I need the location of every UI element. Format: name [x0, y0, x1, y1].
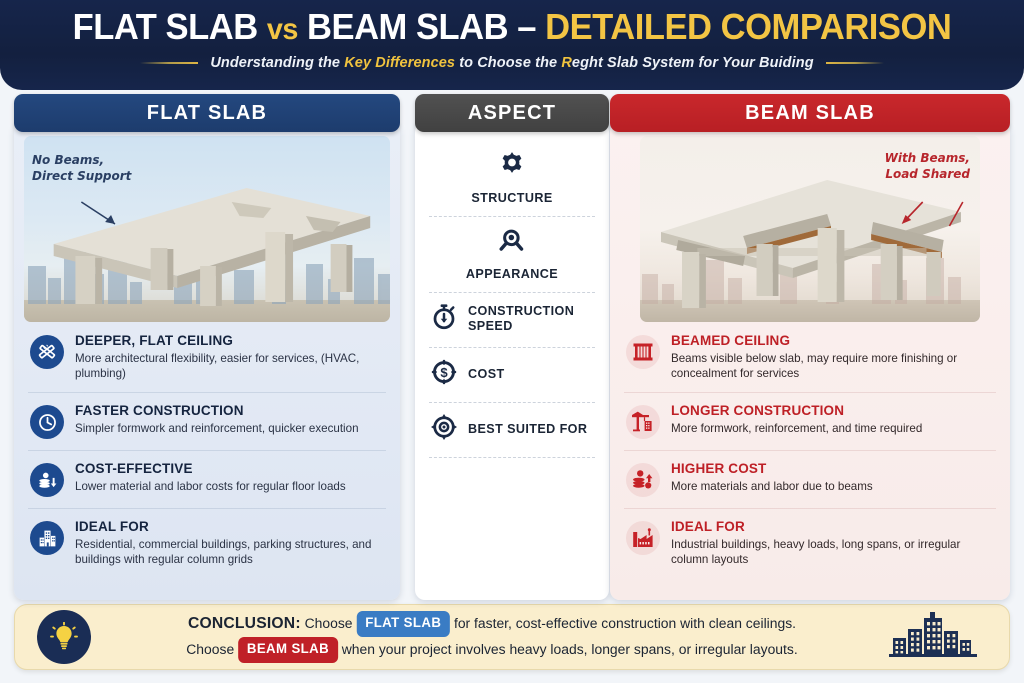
conclusion-line1-before: Choose	[301, 616, 357, 632]
page-subtitle: Understanding the Key Differences to Cho…	[210, 55, 813, 71]
conclusion-line-2: Choose BEAM SLAB when your project invol…	[115, 637, 870, 663]
beam-feature-beamed-ceiling: BEAMED CEILING Beams visible below slab,…	[618, 322, 1002, 392]
subtitle-key-differences: Key Differences	[344, 55, 455, 71]
conclusion-bar: CONCLUSION: Choose FLAT SLAB for faster,…	[14, 604, 1010, 670]
flat-slab-header: FLAT SLAB	[14, 94, 400, 132]
flat-slab-body: No Beams,Direct Support	[14, 122, 400, 600]
aspect-construction-speed: CONSTRUCTION SPEED	[425, 292, 599, 347]
header-banner: FLAT SLAB vs BEAM SLAB – DETAILED COMPAR…	[0, 0, 1024, 90]
feature-title: FASTER CONSTRUCTION	[75, 403, 384, 419]
beam-slab-illustration: With Beams,Load Shared	[640, 136, 980, 322]
flat-feature-deeper-flat-ceiling: DEEPER, FLAT CEILING More architectural …	[22, 322, 392, 392]
divider-left	[140, 62, 198, 64]
aspect-label: BEST SUITED FOR	[468, 422, 587, 437]
target-icon	[429, 412, 459, 447]
subtitle-row: Understanding the Key Differences to Cho…	[0, 55, 1024, 71]
feature-desc: Lower material and labor costs for regul…	[75, 479, 384, 494]
stopwatch-glyph	[429, 302, 459, 332]
beam-feature-text: BEAMED CEILING Beams visible below slab,…	[671, 333, 994, 381]
column-beam-slab: BEAM SLAB	[610, 94, 1010, 600]
column-flat-slab: FLAT SLAB	[14, 94, 400, 600]
gear-icon	[497, 150, 527, 185]
conclusion-label: CONCLUSION:	[188, 615, 301, 632]
aspect-best-suited-for: BEST SUITED FOR	[425, 402, 599, 457]
title-detailed-comparison: DETAILED COMPARISON	[545, 6, 951, 47]
dollar-icon: $	[429, 357, 459, 392]
feature-title: DEEPER, FLAT CEILING	[75, 333, 384, 349]
beam-slab-annotation: With Beams,Load Shared	[885, 150, 970, 182]
aspect-label: STRUCTURE	[471, 191, 552, 206]
magnifier-glyph	[497, 226, 527, 256]
gear-glyph	[497, 150, 527, 180]
aspect-cost: $ COST	[425, 347, 599, 402]
subtitle-part-3: eght Slab System for Your Buiding	[572, 55, 814, 71]
beam-feature-higher-cost: HIGHER COST More materials and labor due…	[618, 450, 1002, 508]
coins-up-glyph	[631, 468, 655, 492]
factory-glyph	[631, 526, 655, 550]
clock-icon	[30, 405, 64, 439]
feature-title: IDEAL FOR	[75, 519, 384, 535]
title-vs: vs	[267, 13, 298, 46]
crane-glyph	[631, 410, 655, 434]
beam-feature-text: LONGER CONSTRUCTION More formwork, reinf…	[671, 403, 994, 436]
feature-title: COST-EFFECTIVE	[75, 461, 384, 477]
feature-desc: More formwork, reinforcement, and time r…	[671, 421, 994, 436]
conclusion-line2-after: when your project involves heavy loads, …	[338, 642, 798, 658]
aspect-header: ASPECT	[415, 94, 609, 132]
stopwatch-icon	[429, 302, 459, 337]
aspect-appearance: APPEARANCE	[425, 216, 599, 292]
flat-slab-chip: FLAT SLAB	[356, 611, 450, 637]
feature-title: LONGER CONSTRUCTION	[671, 403, 994, 419]
feature-title: BEAMED CEILING	[671, 333, 994, 349]
title-dash: –	[517, 6, 545, 47]
feature-title: IDEAL FOR	[671, 519, 994, 535]
flat-slab-illustration: No Beams,Direct Support	[24, 136, 390, 322]
conclusion-line1-after: for faster, cost-effective construction …	[450, 616, 796, 632]
feature-desc: Residential, commercial buildings, parki…	[75, 537, 384, 568]
building-glyph	[37, 528, 58, 549]
feature-desc: Industrial buildings, heavy loads, long …	[671, 537, 994, 568]
beam-feature-longer-construction: LONGER CONSTRUCTION More formwork, reinf…	[618, 392, 1002, 450]
beam-slab-body: With Beams,Load Shared	[610, 122, 1010, 600]
feature-desc: More architectural flexibility, easier f…	[75, 351, 384, 382]
coins-up-arrow-icon	[626, 463, 660, 497]
flat-feature-ideal-for: IDEAL FOR Residential, commercial buildi…	[22, 508, 392, 578]
aspect-label: COST	[468, 367, 505, 382]
aspect-label: APPEARANCE	[466, 267, 558, 282]
crossed-rulers-glyph	[37, 342, 57, 362]
svg-text:$: $	[440, 365, 448, 380]
page-title: FLAT SLAB vs BEAM SLAB – DETAILED COMPAR…	[20, 8, 1003, 46]
target-glyph	[429, 412, 459, 442]
coins-down-glyph	[37, 470, 58, 491]
aspect-bottom-divider	[429, 457, 595, 458]
building-icon	[30, 521, 64, 555]
flat-feature-faster-construction: FASTER CONSTRUCTION Simpler formwork and…	[22, 392, 392, 450]
beam-feature-text: HIGHER COST More materials and labor due…	[671, 461, 994, 494]
feature-desc: Simpler formwork and reinforcement, quic…	[75, 421, 384, 436]
lightbulb-glyph	[49, 622, 79, 652]
feature-title: HIGHER COST	[671, 461, 994, 477]
factory-icon	[626, 521, 660, 555]
title-beam-slab: BEAM SLAB	[298, 6, 517, 47]
clock-glyph	[37, 412, 58, 433]
conclusion-line2-before: Choose	[186, 642, 238, 658]
flat-feature-text: FASTER CONSTRUCTION Simpler formwork and…	[75, 403, 384, 436]
crossed-rulers-icon	[30, 335, 64, 369]
title-flat-slab: FLAT SLAB	[73, 6, 267, 47]
flat-slab-annotation: No Beams,Direct Support	[32, 152, 131, 184]
beam-feature-ideal-for: IDEAL FOR Industrial buildings, heavy lo…	[618, 508, 1002, 578]
aspect-structure: STRUCTURE	[425, 140, 599, 216]
divider-right	[826, 62, 884, 64]
magnifier-icon	[497, 226, 527, 261]
dollar-glyph: $	[429, 357, 459, 387]
city-skyline-icon	[887, 610, 993, 665]
conclusion-line-1: CONCLUSION: Choose FLAT SLAB for faster,…	[115, 611, 870, 637]
flat-feature-cost-effective: COST-EFFECTIVE Lower material and labor …	[22, 450, 392, 508]
beam-slab-header: BEAM SLAB	[610, 94, 1010, 132]
feature-desc: More materials and labor due to beams	[671, 479, 994, 494]
aspect-label: CONSTRUCTION SPEED	[468, 304, 595, 334]
flat-feature-text: IDEAL FOR Residential, commercial buildi…	[75, 519, 384, 567]
beam-slab-chip: BEAM SLAB	[238, 637, 338, 663]
flat-feature-text: DEEPER, FLAT CEILING More architectural …	[75, 333, 384, 381]
subtitle-part-1: Understanding the	[210, 55, 344, 71]
lightbulb-icon	[37, 610, 91, 664]
beam-structure-glyph	[631, 340, 655, 364]
city-skyline-glyph	[887, 610, 993, 660]
column-aspect: ASPECT STRUCTURE	[415, 94, 609, 600]
flat-feature-text: COST-EFFECTIVE Lower material and labor …	[75, 461, 384, 494]
feature-desc: Beams visible below slab, may require mo…	[671, 351, 994, 382]
crane-icon	[626, 405, 660, 439]
aspect-body: STRUCTURE APPEARANCE	[415, 122, 609, 600]
subtitle-highlight-r: R	[561, 55, 572, 71]
conclusion-text: CONCLUSION: Choose FLAT SLAB for faster,…	[115, 611, 870, 663]
comparison-columns: FLAT SLAB	[0, 94, 1024, 594]
coins-down-arrow-icon	[30, 463, 64, 497]
subtitle-part-2: to Choose the	[455, 55, 561, 71]
infographic-poster: FLAT SLAB vs BEAM SLAB – DETAILED COMPAR…	[0, 0, 1024, 683]
beam-structure-icon	[626, 335, 660, 369]
beam-feature-text: IDEAL FOR Industrial buildings, heavy lo…	[671, 519, 994, 567]
